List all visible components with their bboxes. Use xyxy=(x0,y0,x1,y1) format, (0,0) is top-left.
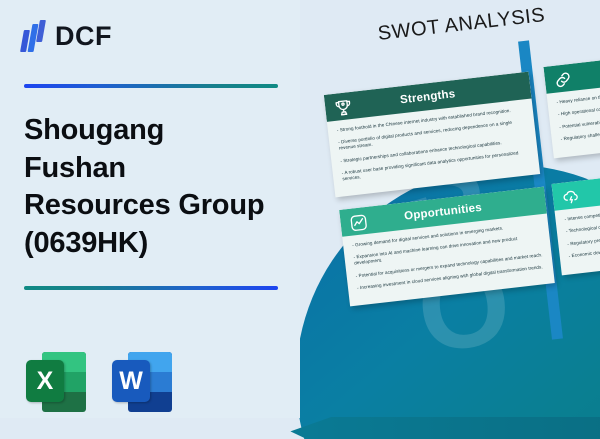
swot-card-weaknesses: Weaknesses - Heavy reliance on the domes… xyxy=(543,44,600,158)
divider-bottom xyxy=(24,286,278,290)
trend-chart-icon xyxy=(348,212,370,234)
weaknesses-header: Weaknesses xyxy=(543,44,600,94)
excel-file-icon[interactable]: X xyxy=(26,350,86,414)
swot-heading: SWOT ANALYSIS xyxy=(377,4,547,46)
title-line-2: Fushan xyxy=(24,150,294,188)
divider-top xyxy=(24,84,278,88)
bar-chart-logo-icon xyxy=(22,20,48,52)
word-badge: W xyxy=(112,360,150,402)
title-line-4: (0639HK) xyxy=(24,225,294,263)
brand-logo[interactable]: DCF xyxy=(22,20,112,52)
title-line-1: Shougang xyxy=(24,112,294,150)
poster-page: DCF Shougang Fushan Resources Group (063… xyxy=(0,0,600,439)
excel-badge: X xyxy=(26,360,64,402)
brand-name: DCF xyxy=(55,23,112,50)
download-icons: X W xyxy=(26,350,172,414)
trophy-icon xyxy=(332,97,354,119)
threats-header: Threats xyxy=(551,161,600,211)
storm-cloud-icon xyxy=(560,186,582,208)
page-title: Shougang Fushan Resources Group (0639HK) xyxy=(24,112,294,263)
title-line-3: Resources Group xyxy=(24,187,294,225)
chain-link-icon xyxy=(552,69,574,91)
word-file-icon[interactable]: W xyxy=(112,350,172,414)
